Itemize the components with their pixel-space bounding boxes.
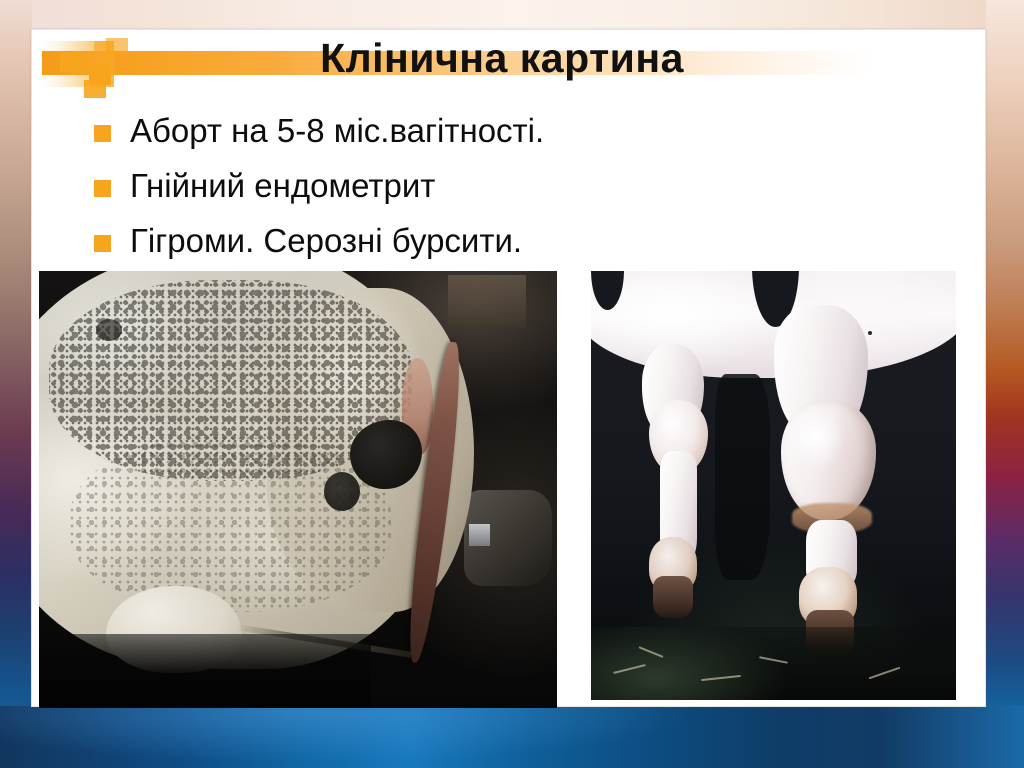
square-bullet-icon xyxy=(94,180,111,197)
bullet-item-3: Гігроми. Серозні бурсити. xyxy=(94,214,954,269)
bullet-item-1-label: Аборт на 5-8 міс.вагітності. xyxy=(130,114,544,149)
title-block: Клінична картина xyxy=(32,30,987,98)
frame-border-right xyxy=(986,0,1024,768)
near-leg-hygroma xyxy=(781,400,876,520)
cow-hide-speckle-mid xyxy=(70,437,391,612)
rear-leg-hoof xyxy=(653,576,693,619)
bullet-item-3-label: Гігроми. Серозні бурсити. xyxy=(130,224,522,259)
cow-legs-hygroma-photo xyxy=(591,271,956,700)
barn-chain xyxy=(469,524,490,546)
ground-litter xyxy=(591,627,956,700)
cow-dark-patch-3 xyxy=(96,319,122,341)
slide-title: Клінична картина xyxy=(32,35,972,82)
bullet-item-2-label: Гнійний ендометрит xyxy=(130,169,435,204)
barn-beam xyxy=(448,275,526,327)
between-legs-shadow xyxy=(715,374,770,580)
photo-strip xyxy=(32,271,987,708)
square-bullet-icon xyxy=(94,235,111,252)
bullet-list: Аборт на 5-8 міс.вагітності. Гнійний енд… xyxy=(94,104,954,269)
slide-content-card: Клінична картина Аборт на 5-8 міс.вагітн… xyxy=(31,29,986,707)
frame-border-top xyxy=(0,0,1024,30)
accent-square-icon-4 xyxy=(84,80,106,98)
bullet-item-2: Гнійний ендометрит xyxy=(94,159,954,214)
frame-border-left xyxy=(0,0,32,768)
bullet-item-1: Аборт на 5-8 міс.вагітності. xyxy=(94,104,954,159)
frame-border-bottom xyxy=(0,706,1024,768)
cow-hindquarters-photo xyxy=(39,271,557,708)
square-bullet-icon xyxy=(94,125,111,142)
slide-root: Клінична картина Аборт на 5-8 міс.вагітн… xyxy=(0,0,1024,768)
barn-floor xyxy=(39,634,371,708)
